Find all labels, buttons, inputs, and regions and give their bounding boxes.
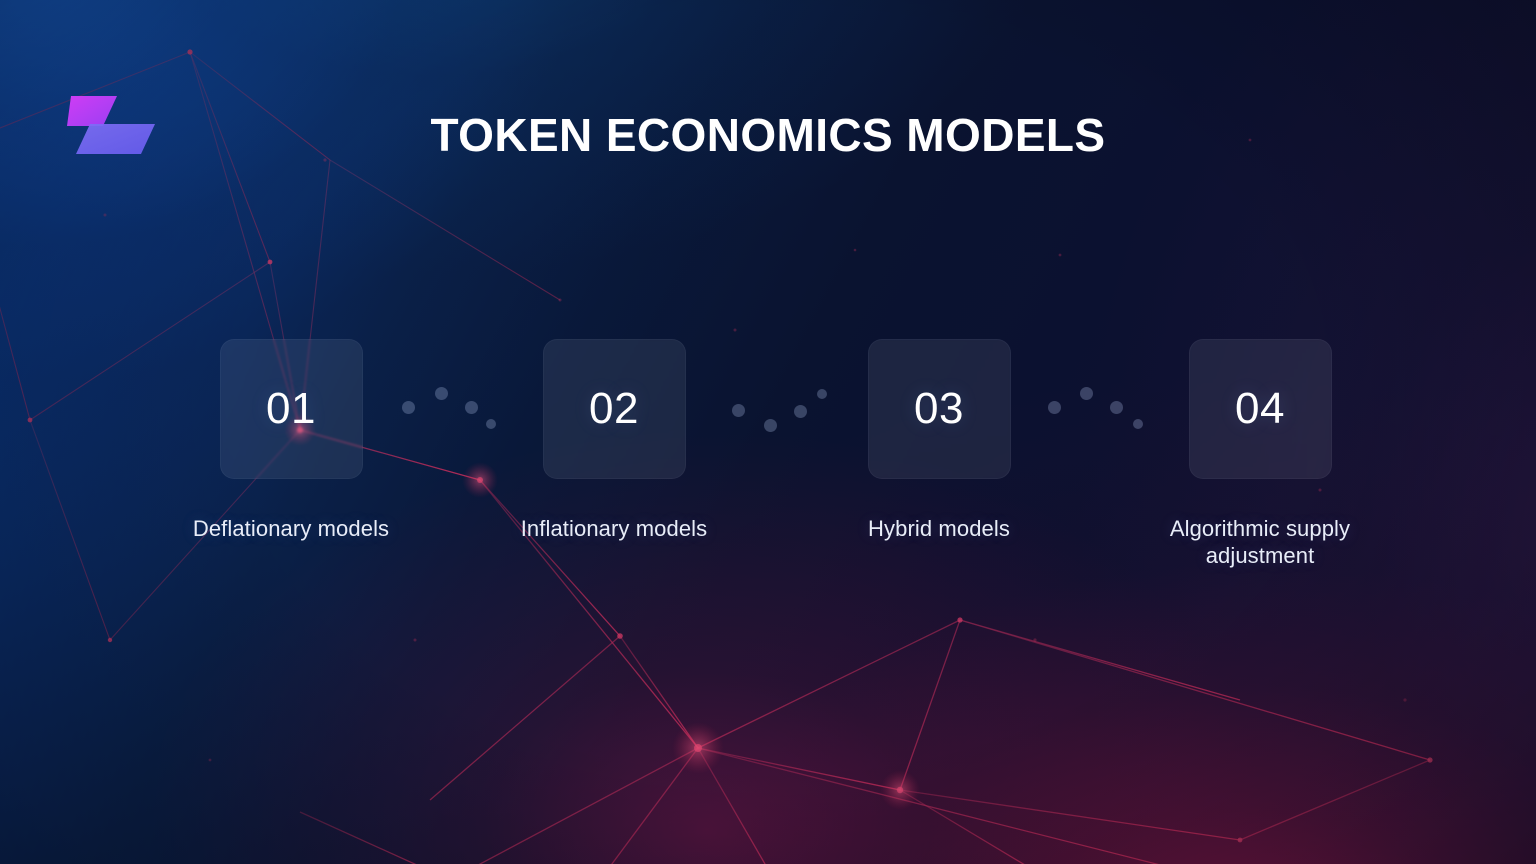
step-number-03: 03: [914, 387, 964, 431]
step-card-04[interactable]: 04: [1189, 339, 1332, 479]
step-card-03[interactable]: 03: [868, 339, 1011, 479]
step-item-04[interactable]: 04 Algorithmic supply adjustment: [1130, 339, 1390, 569]
connector-dot: [1048, 401, 1061, 414]
step-label-01: Deflationary models: [161, 515, 421, 542]
step-number-02: 02: [589, 387, 639, 431]
steps-row: 01 Deflationary models 02 Inflationary m…: [0, 339, 1536, 599]
connector-dot: [794, 405, 807, 418]
connector-dot: [435, 387, 448, 400]
connector-dot: [732, 404, 745, 417]
step-label-02: Inflationary models: [484, 515, 744, 542]
step-item-02[interactable]: 02 Inflationary models: [484, 339, 744, 542]
connector-dot: [764, 419, 777, 432]
step-item-03[interactable]: 03 Hybrid models: [809, 339, 1069, 542]
step-card-01[interactable]: 01: [220, 339, 363, 479]
step-number-04: 04: [1235, 387, 1285, 431]
step-label-04: Algorithmic supply adjustment: [1130, 515, 1390, 569]
connector-dot: [1110, 401, 1123, 414]
connector-dot: [402, 401, 415, 414]
slide-canvas: TOKEN ECONOMICS MODELS 01 Deflationary m…: [0, 0, 1536, 864]
step-card-02[interactable]: 02: [543, 339, 686, 479]
step-label-03: Hybrid models: [809, 515, 1069, 542]
connector-dot: [1080, 387, 1093, 400]
step-number-01: 01: [266, 387, 316, 431]
connector-dot: [465, 401, 478, 414]
step-item-01[interactable]: 01 Deflationary models: [161, 339, 421, 542]
page-title: TOKEN ECONOMICS MODELS: [0, 104, 1536, 166]
